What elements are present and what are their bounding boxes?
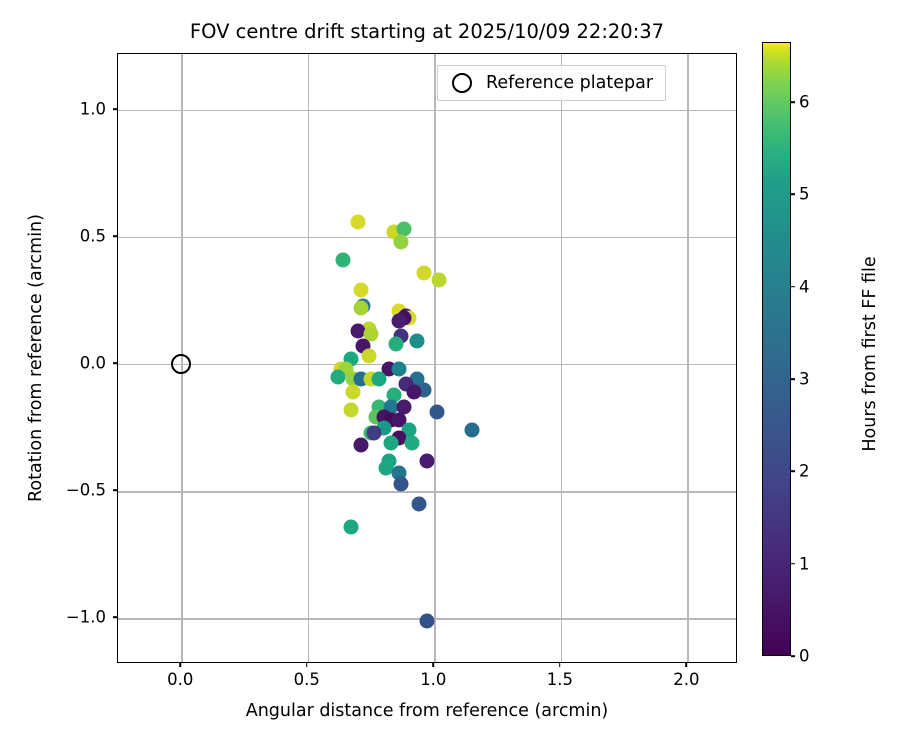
y-tick-mark <box>113 489 117 491</box>
legend-open-circle-icon <box>452 73 472 93</box>
y-tick-label: 1.0 <box>80 99 106 118</box>
scatter-point <box>343 519 358 534</box>
colorbar-tick-label: 2 <box>799 462 810 481</box>
scatter-point <box>419 453 434 468</box>
colorbar-tick-mark <box>791 194 795 196</box>
scatter-point <box>407 385 422 400</box>
scatter-point <box>394 235 409 250</box>
scatter-point <box>391 313 406 328</box>
scatter-point <box>353 438 368 453</box>
gridline-horizontal <box>118 364 736 365</box>
scatter-point <box>391 362 406 377</box>
scatter-point <box>384 435 399 450</box>
scatter-point <box>417 265 432 280</box>
colorbar-tick-label: 0 <box>799 647 810 666</box>
scatter-point <box>366 425 381 440</box>
y-tick-mark <box>113 235 117 237</box>
scatter-point <box>351 214 366 229</box>
scatter-point <box>353 283 368 298</box>
colorbar-tick-mark <box>791 655 795 657</box>
scatter-point <box>361 349 376 364</box>
colorbar-tick-mark <box>791 286 795 288</box>
y-tick-mark <box>113 362 117 364</box>
scatter-point <box>394 476 409 491</box>
figure-canvas: FOV centre drift starting at 2025/10/09 … <box>0 0 900 750</box>
y-tick-label: −1.0 <box>66 608 106 627</box>
scatter-point <box>331 369 346 384</box>
x-tick-mark <box>306 663 308 667</box>
colorbar-tick-mark <box>791 101 795 103</box>
scatter-point <box>412 496 427 511</box>
legend: Reference platepar <box>437 65 666 101</box>
x-tick-label: 2.0 <box>673 670 699 689</box>
x-tick-label: 0.5 <box>294 670 320 689</box>
colorbar-tick-label: 6 <box>799 93 810 112</box>
colorbar-tick-label: 4 <box>799 277 810 296</box>
y-tick-label: −0.5 <box>66 481 106 500</box>
y-tick-mark <box>113 108 117 110</box>
x-tick-label: 1.0 <box>420 670 446 689</box>
colorbar-gradient <box>763 43 790 655</box>
x-tick-label: 0.0 <box>167 670 193 689</box>
gridline-vertical <box>561 54 562 662</box>
scatter-point <box>465 423 480 438</box>
colorbar-tick-label: 5 <box>799 185 810 204</box>
scatter-point <box>389 336 404 351</box>
scatter-point <box>404 435 419 450</box>
scatter-point <box>336 252 351 267</box>
y-tick-mark <box>113 616 117 618</box>
scatter-point <box>429 405 444 420</box>
scatter-point <box>371 372 386 387</box>
gridline-horizontal <box>118 491 736 492</box>
x-tick-mark <box>179 663 181 667</box>
plot-area <box>117 53 737 663</box>
x-tick-mark <box>686 663 688 667</box>
reference-platepar-marker <box>171 354 191 374</box>
y-tick-label: 0.5 <box>80 227 106 246</box>
gridline-horizontal <box>118 110 736 111</box>
gridline-vertical <box>687 54 688 662</box>
y-tick-label: 0.0 <box>80 354 106 373</box>
x-axis-label: Angular distance from reference (arcmin) <box>117 701 737 721</box>
x-tick-mark <box>433 663 435 667</box>
colorbar-tick-mark <box>791 471 795 473</box>
gridline-vertical <box>434 54 435 662</box>
colorbar <box>762 42 791 656</box>
colorbar-label: Hours from first FF file <box>860 47 880 661</box>
scatter-point <box>419 613 434 628</box>
scatter-point <box>409 334 424 349</box>
page-title: FOV centre drift starting at 2025/10/09 … <box>117 20 737 43</box>
gridline-vertical <box>308 54 309 662</box>
scatter-point <box>343 402 358 417</box>
scatter-point <box>346 385 361 400</box>
x-tick-mark <box>559 663 561 667</box>
x-tick-label: 1.5 <box>547 670 573 689</box>
colorbar-tick-mark <box>791 563 795 565</box>
colorbar-tick-label: 3 <box>799 370 810 389</box>
scatter-point <box>353 301 368 316</box>
colorbar-tick-mark <box>791 378 795 380</box>
colorbar-tick-label: 1 <box>799 554 810 573</box>
scatter-point <box>432 273 447 288</box>
gridline-horizontal <box>118 237 736 238</box>
y-axis-label: Rotation from reference (arcmin) <box>26 48 46 668</box>
legend-item-label: Reference platepar <box>486 73 653 93</box>
